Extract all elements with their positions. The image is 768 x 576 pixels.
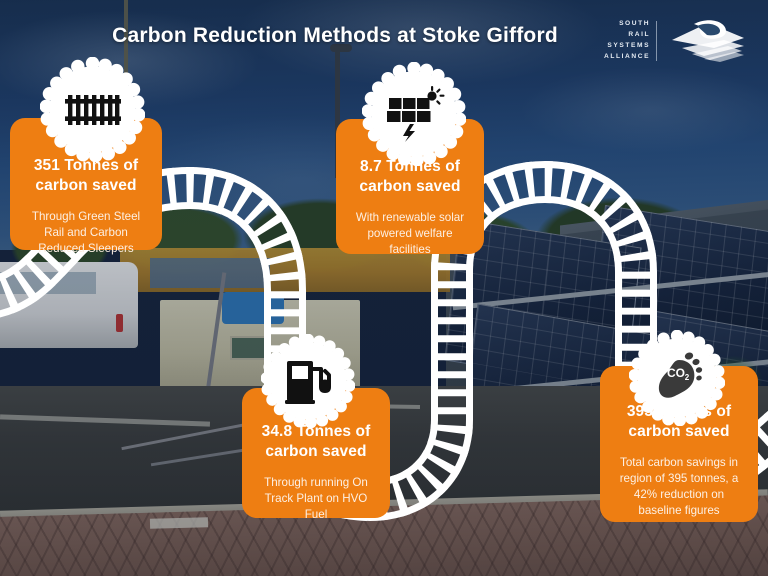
- railway-track-icon: [40, 57, 145, 162]
- logo-line-alliance: ALLIANCE: [604, 52, 650, 63]
- logo-line-south: SOUTH: [619, 19, 650, 30]
- page-title: Carbon Reduction Methods at Stoke Giffor…: [0, 24, 670, 48]
- co2-footprint-icon: CO 2: [629, 330, 725, 426]
- svg-text:2: 2: [685, 373, 690, 382]
- badge-fuel-pump: [261, 334, 355, 428]
- svg-text:CO: CO: [667, 366, 685, 380]
- badge-solar-panel: [362, 62, 466, 166]
- card-description: With renewable solar powered welfare fac…: [348, 210, 472, 258]
- logo-line-rail: RAIL: [628, 30, 650, 41]
- logo-wordmark: SOUTH RAIL SYSTEMS ALLIANCE: [604, 19, 656, 63]
- badge-railway-track: [40, 57, 145, 162]
- card-description: Total carbon savings in region of 395 to…: [612, 455, 746, 519]
- logo-line-systems: SYSTEMS: [607, 41, 650, 52]
- badge-co2-footprint: CO 2: [629, 330, 725, 426]
- brand-logo: SOUTH RAIL SYSTEMS ALLIANCE: [604, 16, 754, 66]
- logo-divider: [656, 21, 657, 61]
- card-description: Through running On Track Plant on HVO Fu…: [254, 475, 378, 523]
- fuel-pump-icon: [261, 334, 355, 428]
- solar-panel-icon: [362, 62, 466, 166]
- infographic-canvas: Carbon Reduction Methods at Stoke Giffor…: [0, 0, 768, 576]
- card-description: Through Green Steel Rail and Carbon Redu…: [22, 209, 150, 257]
- train-mark-icon: [664, 18, 750, 64]
